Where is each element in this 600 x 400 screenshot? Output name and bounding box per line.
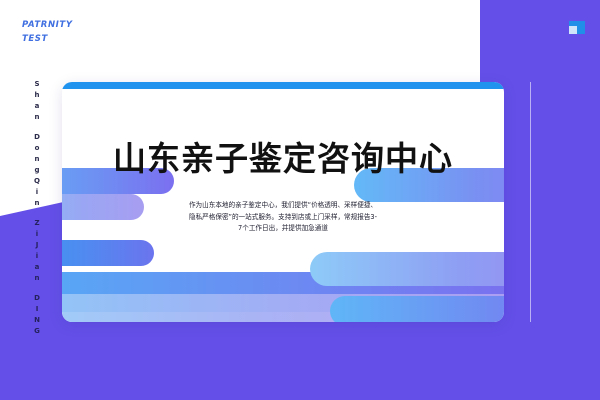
vertical-word-3: ZiJian <box>33 219 41 285</box>
brand-lockup: PATRNITY TEST <box>22 18 73 46</box>
page-title: 山东亲子鉴定咨询中心 <box>62 132 504 180</box>
vertical-hairline-divider <box>530 82 531 322</box>
card-text-block: 山东亲子鉴定咨询中心 作为山东本地的亲子鉴定中心，我们提供“价格透明、采样便捷、… <box>62 82 504 322</box>
brand-line-1: PATRNITY <box>22 18 73 32</box>
brand-line-2: TEST <box>22 32 73 46</box>
corner-square-icon <box>569 21 585 34</box>
card-description-line-3: 7个工作日出，并提供加急通道 <box>172 223 394 235</box>
vertical-word-4: DING <box>33 294 41 338</box>
main-card: 山东亲子鉴定咨询中心 作为山东本地的亲子鉴定中心，我们提供“价格透明、采样便捷、… <box>62 82 504 322</box>
card-description: 作为山东本地的亲子鉴定中心，我们提供“价格透明、采样便捷、 隐私严格保密”的一站… <box>172 200 394 235</box>
card-description-line-1: 作为山东本地的亲子鉴定中心，我们提供“价格透明、采样便捷、 <box>172 200 394 212</box>
vertical-word-1: Shan <box>33 80 41 124</box>
corner-square-icon-notch <box>569 26 577 34</box>
vertical-pinyin-rail: Shan DongQin ZiJian DING <box>26 80 48 350</box>
vertical-word-2: DongQin <box>33 133 41 210</box>
poster-canvas: PATRNITY TEST Shan DongQin ZiJian DING 山… <box>0 0 600 400</box>
card-description-line-2: 隐私严格保密”的一站式服务。支持到店或上门采样，常规报告3- <box>172 212 394 224</box>
